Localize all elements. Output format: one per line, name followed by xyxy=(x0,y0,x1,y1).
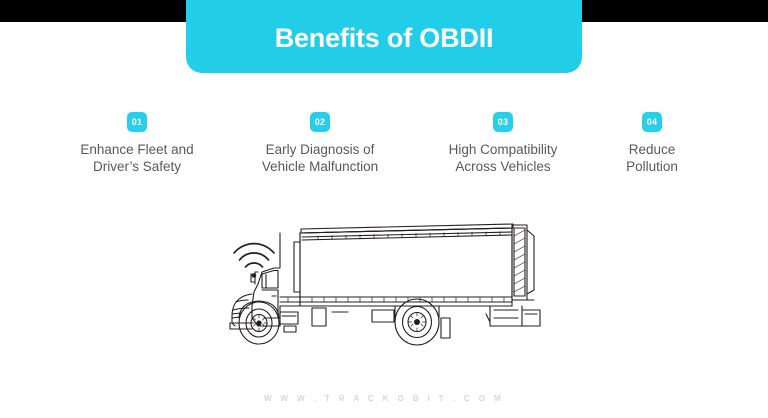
truck-illustration xyxy=(222,222,552,372)
benefit-label-1: Enhance Fleet and Driver’s Safety xyxy=(47,141,227,175)
truck-cab xyxy=(230,233,280,329)
truck-illustration-svg xyxy=(222,222,552,372)
trailer-body xyxy=(280,224,513,306)
benefit-number-badge-4: 04 xyxy=(642,112,662,132)
benefit-item-2: 02 Early Diagnosis of Vehicle Malfunctio… xyxy=(230,112,410,175)
infographic-canvas: Benefits of OBDII 01 Enhance Fleet and D… xyxy=(0,0,768,418)
trailer-liftgate xyxy=(512,225,534,300)
benefit-number-badge-2: 02 xyxy=(310,112,330,132)
wifi-icon xyxy=(234,244,274,267)
benefit-item-4: 04 Reduce Pollution xyxy=(577,112,727,175)
footer: W W W . T R A C K O B I T . C O M xyxy=(0,388,768,406)
benefit-label-4: Reduce Pollution xyxy=(577,141,727,175)
cab-underbody xyxy=(280,312,298,332)
benefit-item-3: 03 High Compatibility Across Vehicles xyxy=(413,112,593,175)
chassis xyxy=(280,306,490,326)
benefit-number-badge-3: 03 xyxy=(493,112,513,132)
benefits-row: 01 Enhance Fleet and Driver’s Safety 02 … xyxy=(0,112,768,192)
benefit-number-badge-1: 01 xyxy=(127,112,147,132)
page-title: Benefits of OBDII xyxy=(275,21,494,52)
rear-bumper xyxy=(486,306,540,326)
benefit-label-2: Early Diagnosis of Vehicle Malfunction xyxy=(230,141,410,175)
title-banner: Benefits of OBDII xyxy=(186,0,582,73)
benefit-label-3: High Compatibility Across Vehicles xyxy=(413,141,593,175)
benefit-item-1: 01 Enhance Fleet and Driver’s Safety xyxy=(47,112,227,175)
website-url: W W W . T R A C K O B I T . C O M xyxy=(264,394,504,403)
